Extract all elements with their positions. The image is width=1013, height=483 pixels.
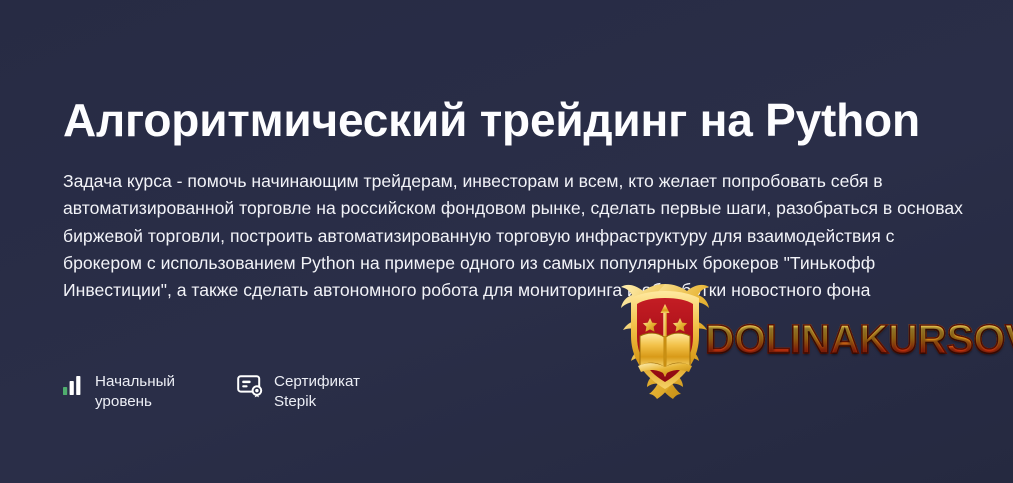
meta-item-certificate: Сертификат Stepik (237, 372, 360, 412)
meta-item-label: Начальный уровень (95, 372, 175, 412)
certificate-icon (237, 374, 263, 403)
watermark-text: DOLINAKURSOV (705, 316, 1013, 363)
course-meta-row: Начальный уровень Сертификат Stepik (62, 372, 360, 412)
level-bars-icon (62, 374, 84, 401)
course-hero-banner: Алгоритмический трейдинг на Python Задач… (0, 0, 1013, 483)
page-title: Алгоритмический трейдинг на Python (63, 93, 920, 147)
course-description: Задача курса - помочь начинающим трейдер… (63, 168, 975, 304)
meta-item-label: Сертификат Stepik (274, 372, 360, 412)
meta-item-level: Начальный уровень (62, 372, 175, 412)
